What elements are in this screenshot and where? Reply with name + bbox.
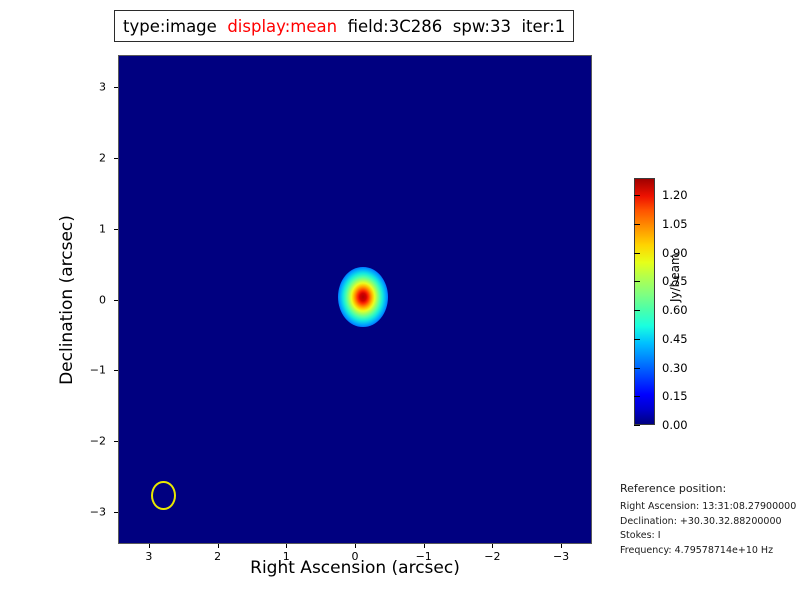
colorbar-tick-label: 0.00 [662, 418, 688, 432]
colorbar-tick-label: 0.60 [662, 303, 688, 317]
x-tick-mark [424, 544, 425, 548]
title-segment-spw: spw:33 [453, 17, 511, 36]
x-tick-mark [355, 544, 356, 548]
colorbar-tick-mark [634, 396, 640, 397]
reference-right-ascension: Right Ascension: 13:31:08.27900000 [620, 500, 798, 515]
colorbar-tick-label: 0.15 [662, 389, 688, 403]
y-tick-mark [114, 229, 118, 230]
x-tick-mark [218, 544, 219, 548]
reference-position-heading: Reference position: [620, 482, 798, 495]
title-separator [511, 17, 522, 36]
colorbar-tick-mark [634, 310, 640, 311]
x-axis-label: Right Ascension (arcsec) [118, 558, 592, 578]
x-tick-mark [286, 544, 287, 548]
title-separator [337, 17, 348, 36]
y-tick-label: 2 [72, 151, 106, 164]
y-tick-mark [114, 370, 118, 371]
reference-stokes: Stokes: I [620, 529, 798, 544]
title-segment-type: type:image [123, 17, 217, 36]
y-tick-label: 3 [72, 80, 106, 93]
colorbar-gradient [634, 178, 655, 425]
colorbar-tick-mark [634, 253, 640, 254]
beam-ellipse-marker [151, 481, 176, 511]
y-tick-mark [114, 300, 118, 301]
y-tick-mark [114, 87, 118, 88]
y-tick-mark [114, 441, 118, 442]
colorbar-tick-mark [634, 425, 640, 426]
colorbar-tick-mark [634, 339, 640, 340]
y-tick-label: 1 [72, 222, 106, 235]
y-tick-label: −3 [72, 506, 106, 519]
y-tick-mark [114, 158, 118, 159]
title-separator [442, 17, 453, 36]
colorbar-tick-label: 0.45 [662, 332, 688, 346]
title-segment-iter: iter:1 [521, 17, 565, 36]
colorbar-tick-mark [634, 368, 640, 369]
x-tick-mark [492, 544, 493, 548]
reference-frequency: Frequency: 4.79578714e+10 Hz [620, 544, 798, 559]
colorbar-tick-mark [634, 281, 640, 282]
plot-title-bar: type:image display:mean field:3C286 spw:… [114, 10, 574, 42]
reference-position-block: Reference position: Right Ascension: 13:… [620, 482, 798, 559]
colorbar-tick-mark [634, 195, 640, 196]
x-tick-mark [149, 544, 150, 548]
colorbar-tick-label: 0.30 [662, 361, 688, 375]
image-plot-area[interactable] [118, 55, 592, 544]
x-tick-mark [561, 544, 562, 548]
colorbar-tick-mark [634, 224, 640, 225]
colorbar-tick-label: 1.05 [662, 217, 688, 231]
y-axis-label: Declination (arcsec) [57, 60, 77, 540]
point-source-marker [338, 267, 388, 328]
y-tick-label: −2 [72, 435, 106, 448]
y-tick-label: 0 [72, 293, 106, 306]
colorbar[interactable] [634, 178, 655, 425]
reference-declination: Declination: +30.30.32.88200000 [620, 515, 798, 530]
colorbar-tick-label: 1.20 [662, 188, 688, 202]
colorbar-unit-label: Jy/beam [668, 253, 682, 302]
title-segment-display: display:mean [227, 17, 337, 36]
title-separator [217, 17, 228, 36]
y-tick-label: −1 [72, 364, 106, 377]
title-segment-field: field:3C286 [348, 17, 443, 36]
y-tick-mark [114, 512, 118, 513]
